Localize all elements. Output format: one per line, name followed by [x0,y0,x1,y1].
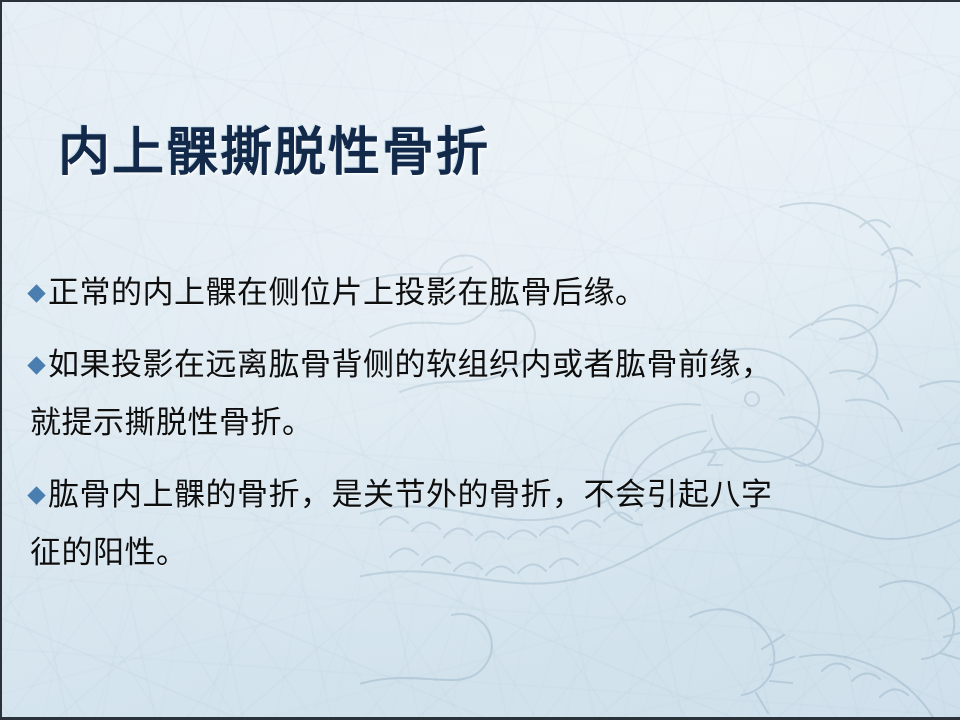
diamond-bullet-icon [27,356,45,374]
bullet-item: 正常的内上髁在侧位片上投影在肱骨后缘。 [30,264,934,322]
bullet-text: 如果投影在远离肱骨背侧的软组织内或者肱骨前缘， [48,347,773,382]
bullet-item: 如果投影在远离肱骨背侧的软组织内或者肱骨前缘， 就提示撕脱性骨折。 [30,336,934,452]
bullet-line-wrap: 征的阳性。 [30,524,934,582]
diamond-bullet-icon [27,284,45,302]
slide-body: 正常的内上髁在侧位片上投影在肱骨后缘。 如果投影在远离肱骨背侧的软组织内或者肱骨… [30,264,934,596]
presentation-slide: 内上髁撕脱性骨折 正常的内上髁在侧位片上投影在肱骨后缘。 如果投影在远离肱骨背侧… [0,0,960,720]
bullet-line: 如果投影在远离肱骨背侧的软组织内或者肱骨前缘， [30,336,934,394]
bullet-line: 正常的内上髁在侧位片上投影在肱骨后缘。 [30,264,934,322]
bullet-item: 肱骨内上髁的骨折，是关节外的骨折，不会引起八字 征的阳性。 [30,466,934,582]
slide-title: 内上髁撕脱性骨折 [58,110,490,185]
bullet-text: 肱骨内上髁的骨折，是关节外的骨折，不会引起八字 [48,477,773,512]
bullet-line-wrap: 就提示撕脱性骨折。 [30,394,934,452]
bullet-line: 肱骨内上髁的骨折，是关节外的骨折，不会引起八字 [30,466,934,524]
bullet-text: 正常的内上髁在侧位片上投影在肱骨后缘。 [48,275,647,310]
diamond-bullet-icon [27,486,45,504]
